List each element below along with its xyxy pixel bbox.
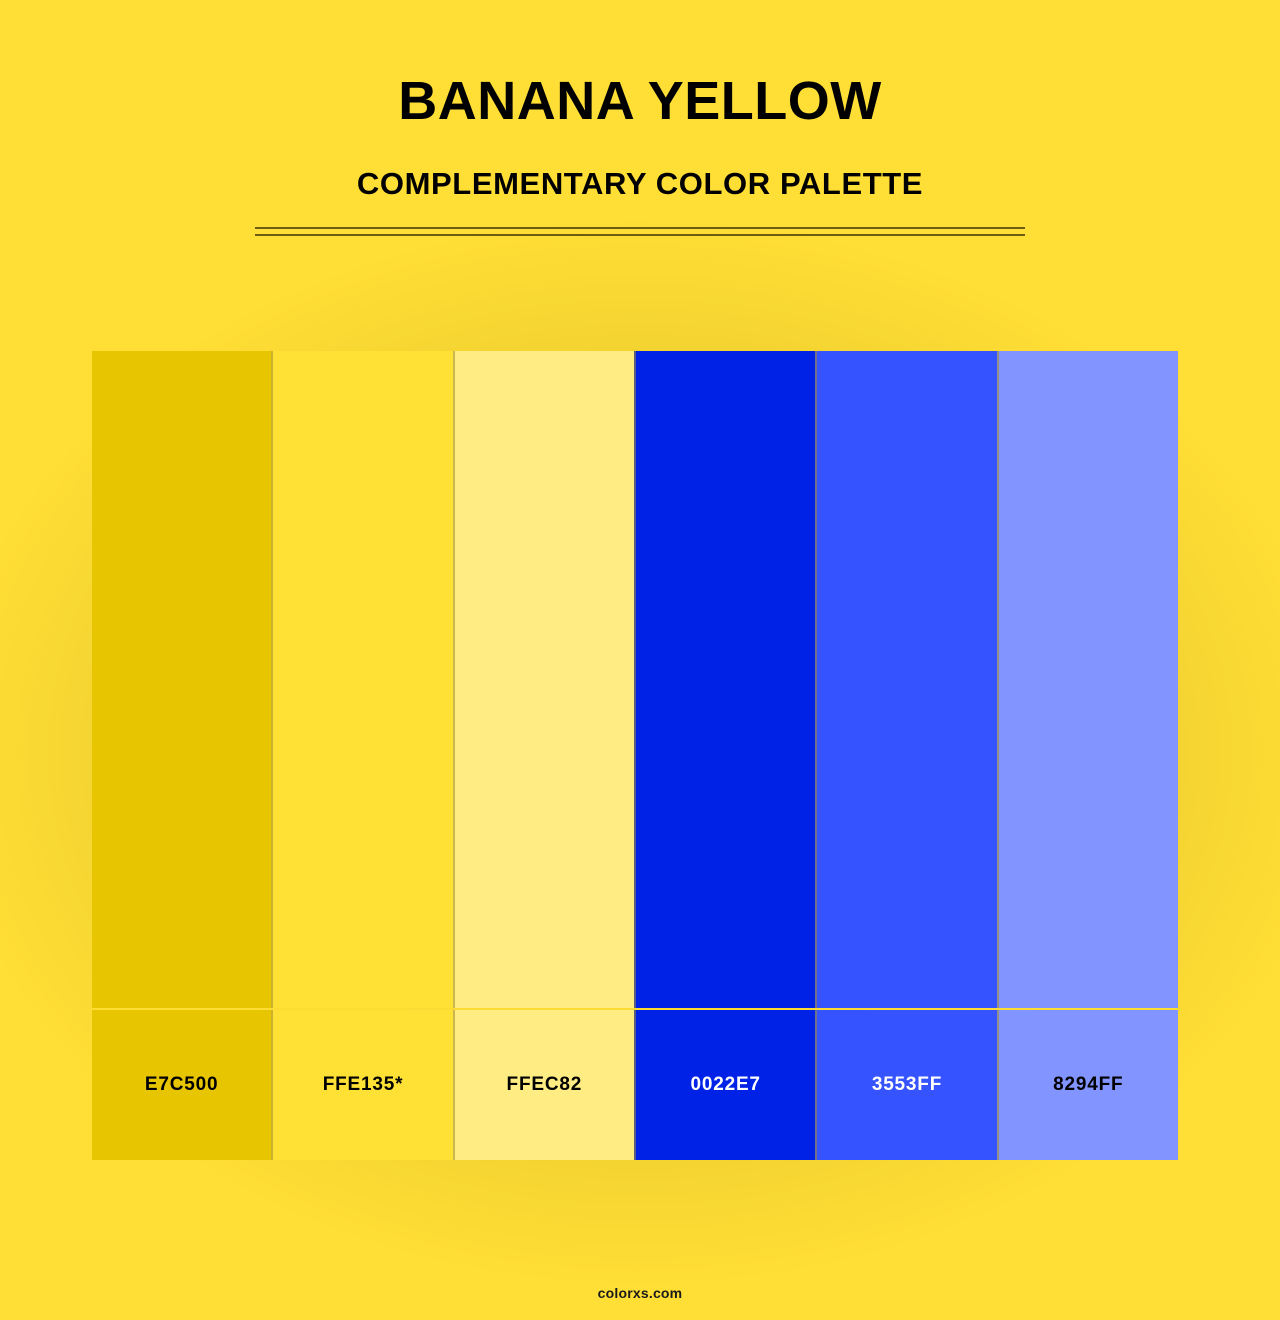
swatch-label-cell[interactable]: 8294FF <box>997 1010 1178 1160</box>
footer: colorxs.com <box>0 1285 1280 1303</box>
swatch-label-cell[interactable]: FFEC82 <box>453 1010 634 1160</box>
swatch-label-cell[interactable]: E7C500 <box>92 1010 271 1160</box>
swatch-label-cell[interactable]: 0022E7 <box>634 1010 815 1160</box>
color-swatch[interactable] <box>634 351 815 1008</box>
color-swatch[interactable] <box>92 351 271 1008</box>
color-swatch[interactable] <box>815 351 996 1008</box>
swatch-row <box>92 351 1178 1008</box>
swatch-hex-label: 8294FF <box>1053 1074 1123 1096</box>
swatch-label-cell[interactable]: FFE135* <box>271 1010 452 1160</box>
swatch-hex-label: 3553FF <box>872 1074 942 1096</box>
swatch-hex-label: 0022E7 <box>690 1074 760 1096</box>
swatch-label-row: E7C500 FFE135* FFEC82 0022E7 3553FF 8294… <box>92 1008 1178 1160</box>
swatch-label-cell[interactable]: 3553FF <box>815 1010 996 1160</box>
color-swatch[interactable] <box>453 351 634 1008</box>
color-swatch[interactable] <box>997 351 1178 1008</box>
palette-page: BANANA YELLOW COMPLEMENTARY COLOR PALETT… <box>0 0 1280 1320</box>
page-title: BANANA YELLOW <box>0 0 1280 128</box>
page-subtitle: COMPLEMENTARY COLOR PALETTE <box>0 128 1280 199</box>
header-divider <box>255 227 1025 236</box>
header: BANANA YELLOW COMPLEMENTARY COLOR PALETT… <box>0 0 1280 236</box>
swatch-hex-label: FFE135* <box>323 1074 404 1096</box>
swatch-hex-label: E7C500 <box>145 1074 218 1096</box>
footer-site-label: colorxs.com <box>598 1285 683 1301</box>
color-swatch[interactable] <box>271 351 452 1008</box>
color-palette: E7C500 FFE135* FFEC82 0022E7 3553FF 8294… <box>92 351 1178 1160</box>
swatch-hex-label: FFEC82 <box>507 1074 583 1096</box>
